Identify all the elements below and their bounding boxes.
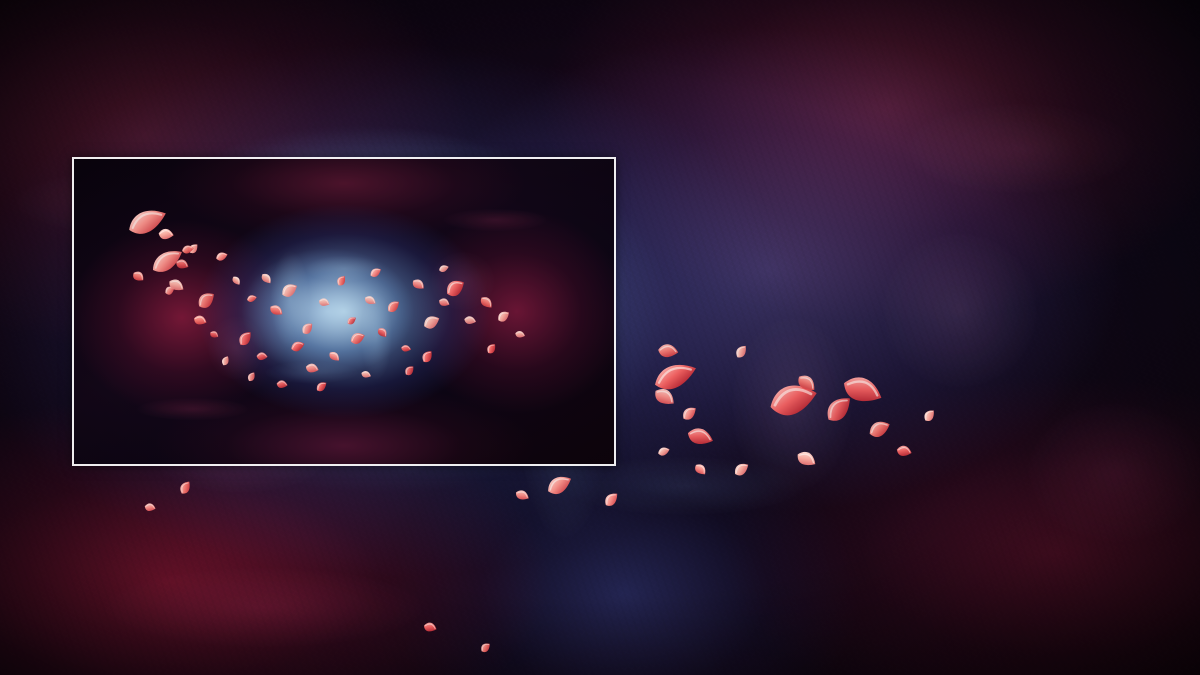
photo-filaments — [74, 159, 614, 464]
slide-canvas — [0, 0, 1200, 675]
framed-photo — [72, 157, 616, 466]
